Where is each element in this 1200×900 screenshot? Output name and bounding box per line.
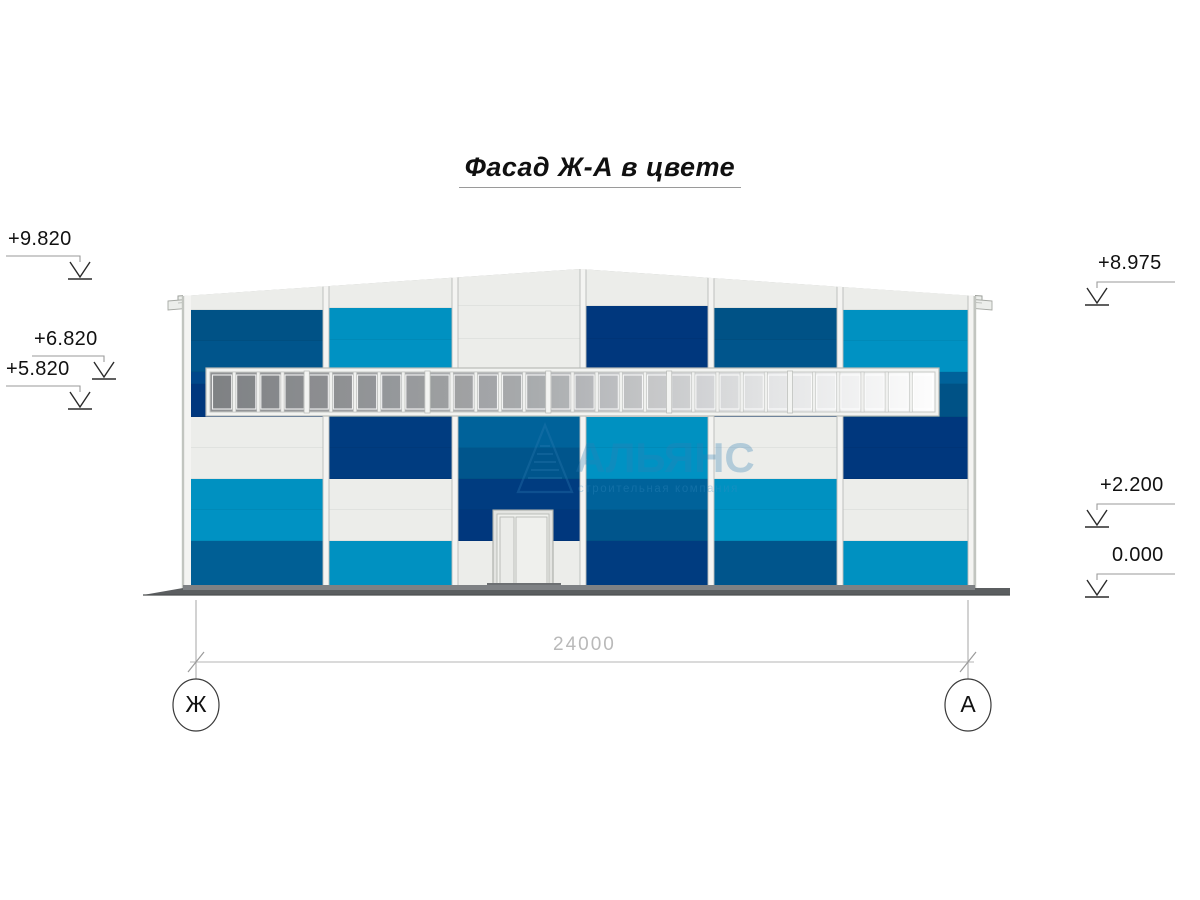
- grid-axis-label-left: Ж: [173, 693, 219, 716]
- window-pane-shade: [648, 376, 666, 409]
- window-mullion: [353, 372, 356, 412]
- ground-line: [143, 585, 1010, 595]
- window-mullion: [595, 372, 598, 412]
- bay-5-band-2: [710, 340, 837, 372]
- grid-axis-bubbles: [173, 679, 991, 731]
- level-label-left-2: +6.820: [34, 328, 98, 351]
- bay-5-band-1: [710, 308, 837, 340]
- bay-1-band-9: [191, 541, 323, 588]
- window-mullion: [257, 372, 260, 412]
- mullion: [708, 262, 714, 588]
- bay-1-band-8: [191, 510, 323, 541]
- bay-2-band-7: [325, 479, 452, 510]
- window-transom-bar: [425, 371, 430, 413]
- window-mullion: [813, 372, 816, 412]
- mullion: [580, 262, 586, 588]
- window-pane-shade: [697, 376, 715, 409]
- bay-3-band-0: [454, 284, 580, 306]
- window-mullion: [523, 372, 526, 412]
- bay-1-band-6: [191, 448, 323, 479]
- entrance-door[interactable]: [487, 510, 561, 589]
- window-pane-shade: [407, 376, 425, 409]
- window-pane-shade: [576, 376, 594, 409]
- bay-6-band-7: [839, 479, 968, 510]
- window-pane-shade: [503, 376, 521, 409]
- bay-6: [839, 296, 968, 588]
- window-mullion: [450, 372, 453, 412]
- bay-4-band-1: [582, 306, 708, 339]
- window-mullion: [571, 372, 574, 412]
- bay-2-band-1: [325, 308, 452, 340]
- bay-2: [325, 290, 452, 588]
- window-pane-shade: [286, 376, 304, 409]
- window-mullion: [643, 372, 646, 412]
- bay-3-band-2: [454, 339, 580, 372]
- window-mullion: [498, 372, 501, 412]
- level-label-right-3: 0.000: [1112, 544, 1164, 567]
- window-pane-shade: [334, 376, 352, 409]
- window-pane-shade: [552, 376, 570, 409]
- window-pane-shade: [262, 376, 280, 409]
- window-mullion: [329, 372, 332, 412]
- window-transom-bar: [304, 371, 309, 413]
- dimension-value-overall: 24000: [553, 634, 616, 656]
- window-mullion: [619, 372, 622, 412]
- mullion: [452, 262, 458, 588]
- bay-4-band-9: [582, 541, 708, 588]
- level-label-right-2: +2.200: [1100, 474, 1164, 497]
- window-pane-shade: [213, 376, 231, 409]
- window-mullion: [885, 372, 888, 412]
- bay-6-band-5: [839, 417, 968, 448]
- window-transom-bar: [667, 371, 672, 413]
- bay-1-band-2: [191, 341, 323, 372]
- level-label-right-1: +8.975: [1098, 252, 1162, 275]
- window-pane-shade: [455, 376, 473, 409]
- grid-axis-label-right: А: [945, 693, 991, 716]
- bay-5-band-0: [710, 290, 837, 308]
- watermark-brand-text: АЛЬЯНС: [575, 434, 755, 481]
- bay-1: [191, 296, 323, 588]
- bay-2-band-6: [325, 448, 452, 479]
- bay-2-band-2: [325, 340, 452, 372]
- bay-1-band-5: [191, 417, 323, 448]
- bay-6-band-6: [839, 448, 968, 479]
- bay-5-band-9: [710, 541, 837, 588]
- mullion: [968, 262, 974, 588]
- window-pane-shade: [310, 376, 328, 409]
- window-pane-shade: [600, 376, 618, 409]
- window-mullion: [764, 372, 767, 412]
- drawing-sheet: АЛЬЯНС строительная компания: [0, 0, 1200, 900]
- facade-panel-field: [183, 260, 975, 590]
- window-pane-shade: [624, 376, 642, 409]
- window-mullion: [909, 372, 912, 412]
- window-mullion: [281, 372, 284, 412]
- bay-2-band-0: [325, 290, 452, 308]
- bay-6-band-1: [839, 310, 968, 341]
- window-pane-shade: [358, 376, 376, 409]
- mullion: [837, 262, 843, 588]
- window-mullion: [233, 372, 236, 412]
- window-mullion: [716, 372, 719, 412]
- window-transom-bar: [546, 371, 551, 413]
- window-mullion: [378, 372, 381, 412]
- bay-6-band-9: [839, 541, 968, 588]
- window-pane-shade: [721, 376, 739, 409]
- window-pane-shade: [527, 376, 545, 409]
- window-pane-shade: [382, 376, 400, 409]
- window-pane-shade: [479, 376, 497, 409]
- bay-2-band-8: [325, 510, 452, 541]
- level-label-left-1: +9.820: [8, 228, 72, 251]
- bay-3-band-7: [454, 479, 580, 510]
- window-mullion: [692, 372, 695, 412]
- bay-3-band-1: [454, 306, 580, 339]
- watermark-tagline-text: строительная компания: [578, 483, 739, 495]
- ribbon-window-band[interactable]: [206, 368, 939, 416]
- door-leaf-narrow[interactable]: [500, 517, 514, 586]
- window-transom-bar: [787, 371, 792, 413]
- bay-1-band-1: [191, 310, 323, 341]
- window-mullion: [474, 372, 477, 412]
- bay-6-band-8: [839, 510, 968, 541]
- door-leaf-wide[interactable]: [516, 517, 547, 586]
- window-mullion: [861, 372, 864, 412]
- window-pane-shade: [672, 376, 690, 409]
- bay-2-band-9: [325, 541, 452, 588]
- level-label-left-3: +5.820: [6, 358, 70, 381]
- bay-4-band-0: [582, 284, 708, 306]
- bay-4-band-2: [582, 339, 708, 372]
- elevation-drawing-canvas: АЛЬЯНС строительная компания: [0, 0, 1200, 900]
- window-pane-shade: [431, 376, 449, 409]
- window-mullion: [837, 372, 840, 412]
- bay-2-band-5: [325, 417, 452, 448]
- window-pane-shade: [237, 376, 255, 409]
- window-mullion: [402, 372, 405, 412]
- mullion: [323, 262, 329, 588]
- window-mullion: [740, 372, 743, 412]
- bay-5-band-8: [710, 510, 837, 541]
- bay-1-band-0: [191, 296, 323, 310]
- bay-1-band-7: [191, 479, 323, 510]
- bay-3-band-5: [454, 417, 580, 448]
- bay-4-band-8: [582, 510, 708, 541]
- bay-6-band-2: [839, 341, 968, 372]
- bay-6-band-0: [839, 296, 968, 310]
